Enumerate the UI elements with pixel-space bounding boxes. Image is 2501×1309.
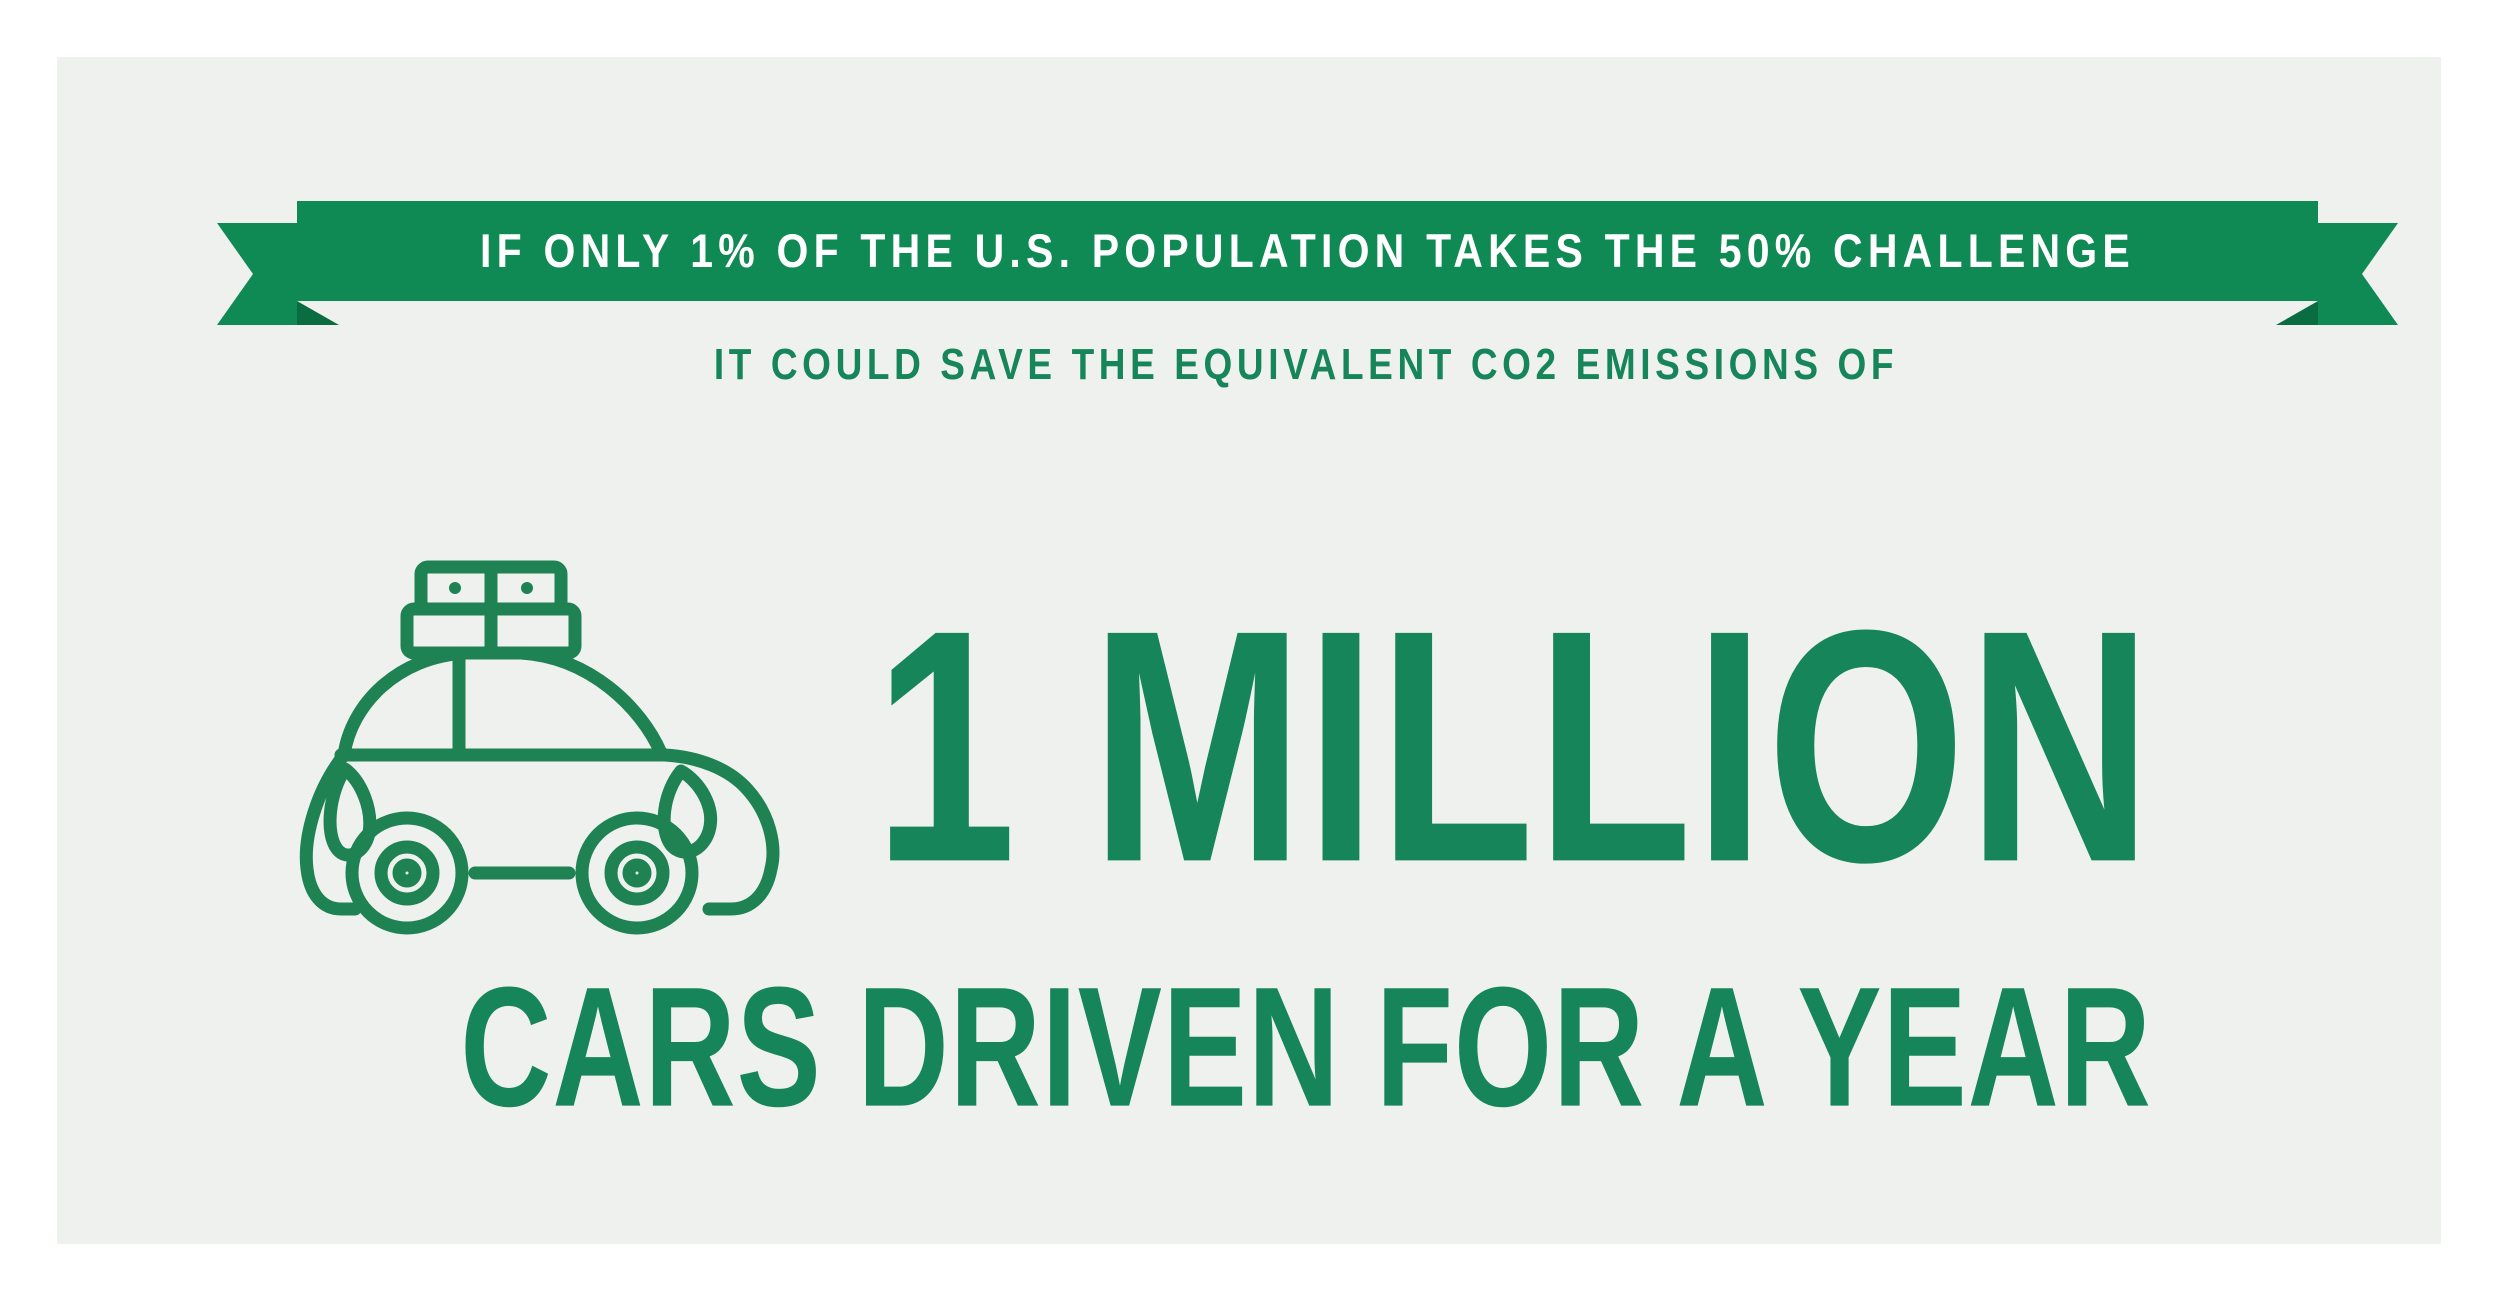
banner-text: IF ONLY 1% OF THE U.S. POPULATION TAKES … (217, 193, 2398, 309)
statistic-caption: CARS DRIVEN FOR A YEAR (352, 962, 2259, 1133)
infographic-root: IF ONLY 1% OF THE U.S. POPULATION TAKES … (0, 0, 2501, 1309)
infographic-panel: IF ONLY 1% OF THE U.S. POPULATION TAKES … (57, 57, 2441, 1244)
ribbon-banner: IF ONLY 1% OF THE U.S. POPULATION TAKES … (217, 201, 2398, 325)
statistic-row: 1 MILLION (114, 537, 2498, 957)
subtitle-text: IT COULD SAVE THE EQUIVALENT CO2 EMISSIO… (114, 340, 2498, 390)
car-with-roof-luggage-icon (289, 557, 789, 947)
car-icon-shape (289, 557, 789, 947)
statistic-headline: 1 MILLION (874, 524, 2153, 969)
